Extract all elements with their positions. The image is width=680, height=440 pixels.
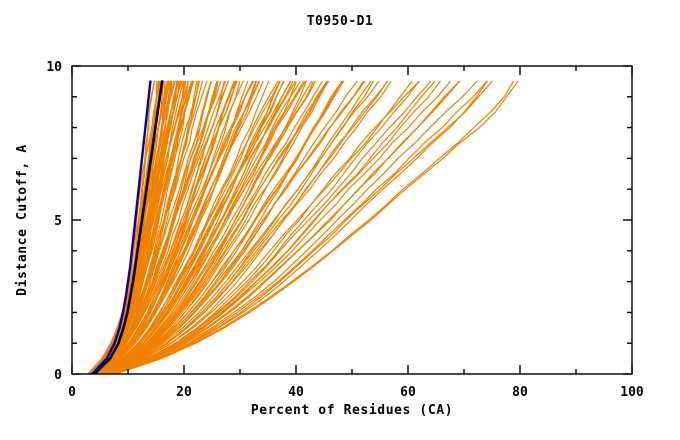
x-tick-label: 40: [288, 385, 304, 400]
y-tick-label: 0: [54, 368, 62, 383]
x-tick-label: 0: [68, 385, 76, 400]
x-axis-title: Percent of Residues (CA): [251, 403, 453, 418]
x-tick-label: 20: [176, 385, 192, 400]
y-tick-label: 10: [46, 60, 62, 75]
plot-canvas: 0204060801000510 Percent of Residues (CA…: [0, 0, 680, 440]
y-tick-label: 5: [54, 214, 62, 229]
x-tick-label: 60: [400, 385, 416, 400]
x-tick-label: 80: [512, 385, 528, 400]
x-tick-label: 100: [620, 385, 644, 400]
y-axis-title: Distance Cutoff, A: [15, 144, 30, 296]
data-curves-group: [88, 81, 518, 374]
chart-figure: T0950-D1 0204060801000510 Percent of Res…: [0, 0, 680, 440]
